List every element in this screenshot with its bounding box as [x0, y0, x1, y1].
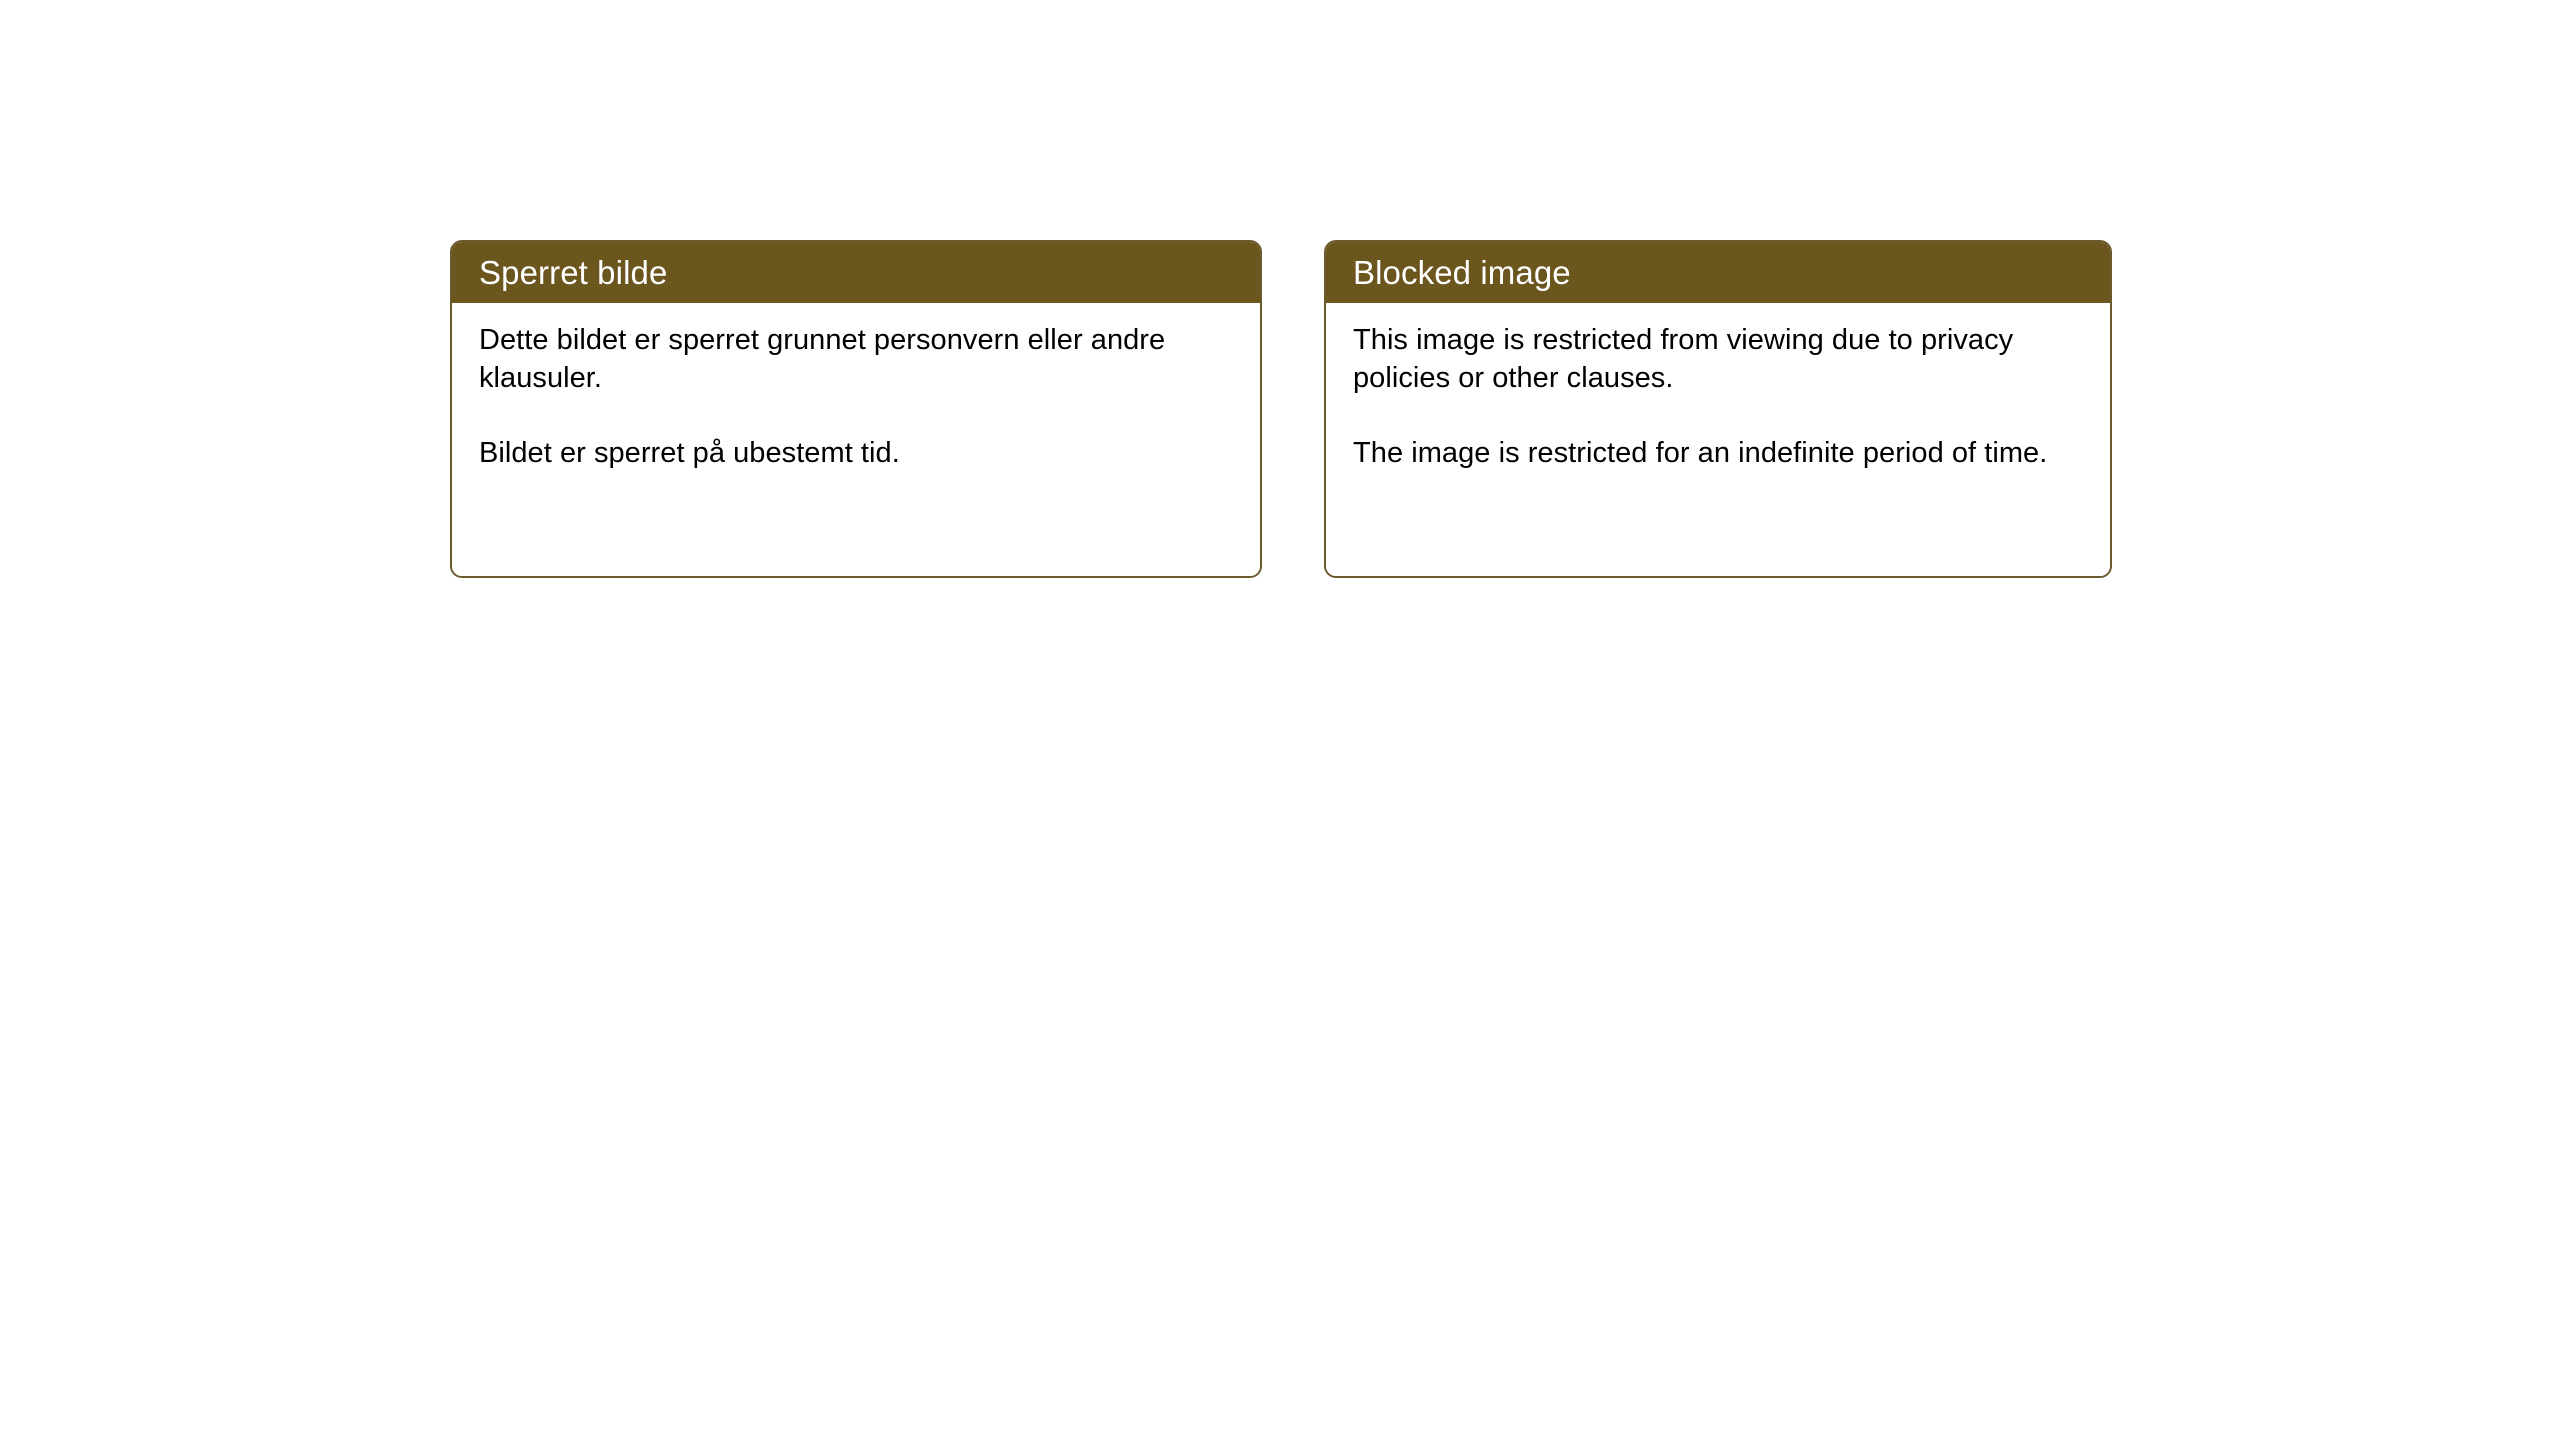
notice-paragraph-duration-no: Bildet er sperret på ubestemt tid.: [479, 434, 1236, 472]
notice-title-en: Blocked image: [1353, 256, 1571, 289]
notice-body-en: This image is restricted from viewing du…: [1326, 303, 2110, 576]
blocked-image-notice-en: Blocked image This image is restricted f…: [1324, 240, 2112, 578]
notice-header-en: Blocked image: [1326, 242, 2110, 303]
notice-paragraph-duration-en: The image is restricted for an indefinit…: [1353, 434, 2086, 472]
blocked-image-notice-no: Sperret bilde Dette bildet er sperret gr…: [450, 240, 1262, 578]
notice-header-no: Sperret bilde: [452, 242, 1260, 303]
notice-paragraph-reason-en: This image is restricted from viewing du…: [1353, 321, 2086, 398]
notice-paragraph-reason-no: Dette bildet er sperret grunnet personve…: [479, 321, 1236, 398]
notice-body-no: Dette bildet er sperret grunnet personve…: [452, 303, 1260, 576]
page-canvas: Sperret bilde Dette bildet er sperret gr…: [0, 0, 2560, 1440]
notice-title-no: Sperret bilde: [479, 256, 667, 289]
